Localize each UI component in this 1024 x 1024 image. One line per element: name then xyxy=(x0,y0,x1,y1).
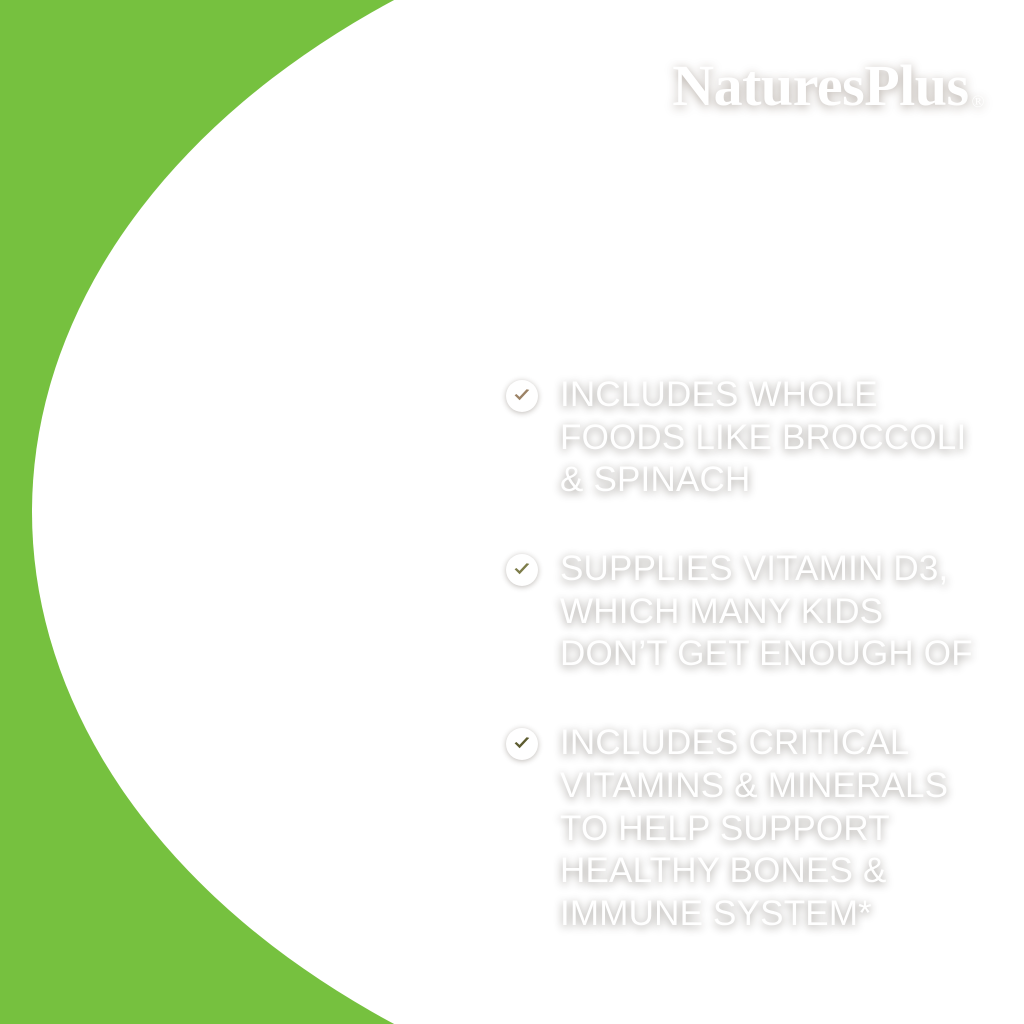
check-circle-icon xyxy=(506,380,538,412)
brand-name: NaturesPlus xyxy=(672,52,968,119)
benefit-item: INCLUDES WHOLE FOODS LIKE BROCCOLI & SPI… xyxy=(506,374,1004,502)
benefit-text: SUPPLIES VITAMIN D3, WHICH MANY KIDS DON… xyxy=(560,548,1004,676)
benefit-item: INCLUDES CRITICAL VITAMINS & MINERALS TO… xyxy=(506,722,1004,935)
benefit-text: INCLUDES CRITICAL VITAMINS & MINERALS TO… xyxy=(560,722,1004,935)
brand-logo: NaturesPlus ® xyxy=(672,52,984,119)
benefit-item: SUPPLIES VITAMIN D3, WHICH MANY KIDS DON… xyxy=(506,548,1004,676)
benefit-text: INCLUDES WHOLE FOODS LIKE BROCCOLI & SPI… xyxy=(560,374,1004,502)
registered-trademark-icon: ® xyxy=(972,93,984,110)
product-benefits-banner: NaturesPlus ® INCLUDES WHOLE FOODS LIKE … xyxy=(0,0,1024,1024)
check-circle-icon xyxy=(506,554,538,586)
check-circle-icon xyxy=(506,728,538,760)
benefit-list: INCLUDES WHOLE FOODS LIKE BROCCOLI & SPI… xyxy=(506,374,1004,936)
